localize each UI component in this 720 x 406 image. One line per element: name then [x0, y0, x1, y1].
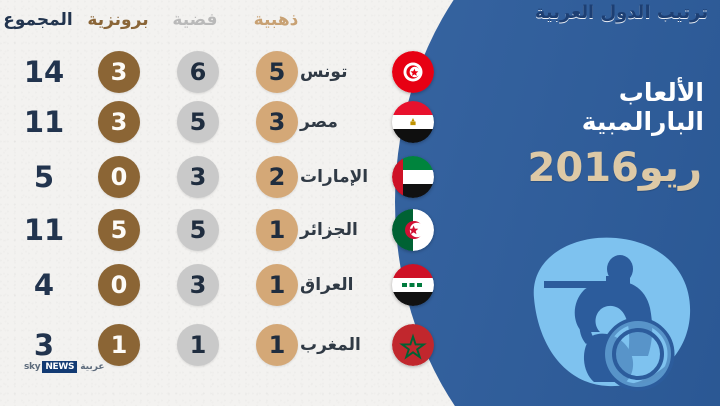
header-gold: ذهبية [236, 10, 316, 30]
flag-iraq [392, 264, 434, 306]
panel-title: الألعاب البارالمبية [454, 78, 704, 136]
gold-value: 3 [256, 101, 298, 143]
country-name: المغرب [300, 324, 386, 366]
flag-algeria [392, 209, 434, 251]
logo-news-text: NEWS [42, 361, 77, 373]
silver-value: 5 [177, 209, 219, 251]
silver-value: 3 [177, 264, 219, 306]
flag-morocco [392, 324, 434, 366]
wheelchair-shooting-pictogram [520, 232, 696, 392]
country-name: الجزائر [300, 209, 386, 251]
table-row: 11 3 5 3 مصر [0, 101, 460, 151]
silver-value: 1 [177, 324, 219, 366]
page-title: ترتيب الدول العربية [535, 2, 708, 23]
table-row: 4 0 3 1 العراق [0, 264, 460, 314]
header-total: المجموع [0, 10, 76, 30]
country-name: العراق [300, 264, 386, 306]
country-name: تونس [300, 51, 386, 93]
gold-value: 1 [256, 209, 298, 251]
infographic-canvas: ترتيب الدول العربية الألعاب البارالمبية … [0, 0, 720, 406]
panel-title-line2: البارالمبية [454, 107, 704, 136]
total-value: 4 [8, 264, 80, 306]
header-bronze: برونزية [76, 10, 160, 30]
gold-value: 1 [256, 324, 298, 366]
bronze-value: 5 [98, 209, 140, 251]
panel-year: ريو2016 [452, 148, 702, 188]
gold-value: 5 [256, 51, 298, 93]
bronze-value: 3 [98, 51, 140, 93]
bronze-value: 0 [98, 156, 140, 198]
silver-value: 6 [177, 51, 219, 93]
silver-value: 3 [177, 156, 219, 198]
table-row: 11 5 5 1 الجزائر [0, 209, 460, 259]
logo-sky-text: sky [24, 362, 42, 372]
country-name: الإمارات [300, 156, 386, 198]
flag-tunisia [392, 51, 434, 93]
country-name: مصر [300, 101, 386, 143]
total-value: 14 [8, 51, 80, 93]
logo-arabic-text: عربية [77, 362, 104, 372]
bronze-value: 0 [98, 264, 140, 306]
gold-value: 2 [256, 156, 298, 198]
table-row: 14 3 6 5 تونس [0, 51, 460, 101]
bronze-value: 3 [98, 101, 140, 143]
total-value: 5 [8, 156, 80, 198]
header-silver: فضية [160, 10, 230, 30]
total-value: 11 [8, 209, 80, 251]
gold-value: 1 [256, 264, 298, 306]
panel-title-line1: الألعاب [454, 78, 704, 107]
sky-news-arabia-logo: sky NEWS عربية [24, 360, 104, 373]
total-value: 11 [8, 101, 80, 143]
silver-value: 5 [177, 101, 219, 143]
flag-egypt [392, 101, 434, 143]
flag-uae [392, 156, 434, 198]
table-row: 5 0 3 2 الإمارات [0, 156, 460, 206]
column-headers: ذهبية فضية برونزية المجموع [0, 10, 340, 44]
